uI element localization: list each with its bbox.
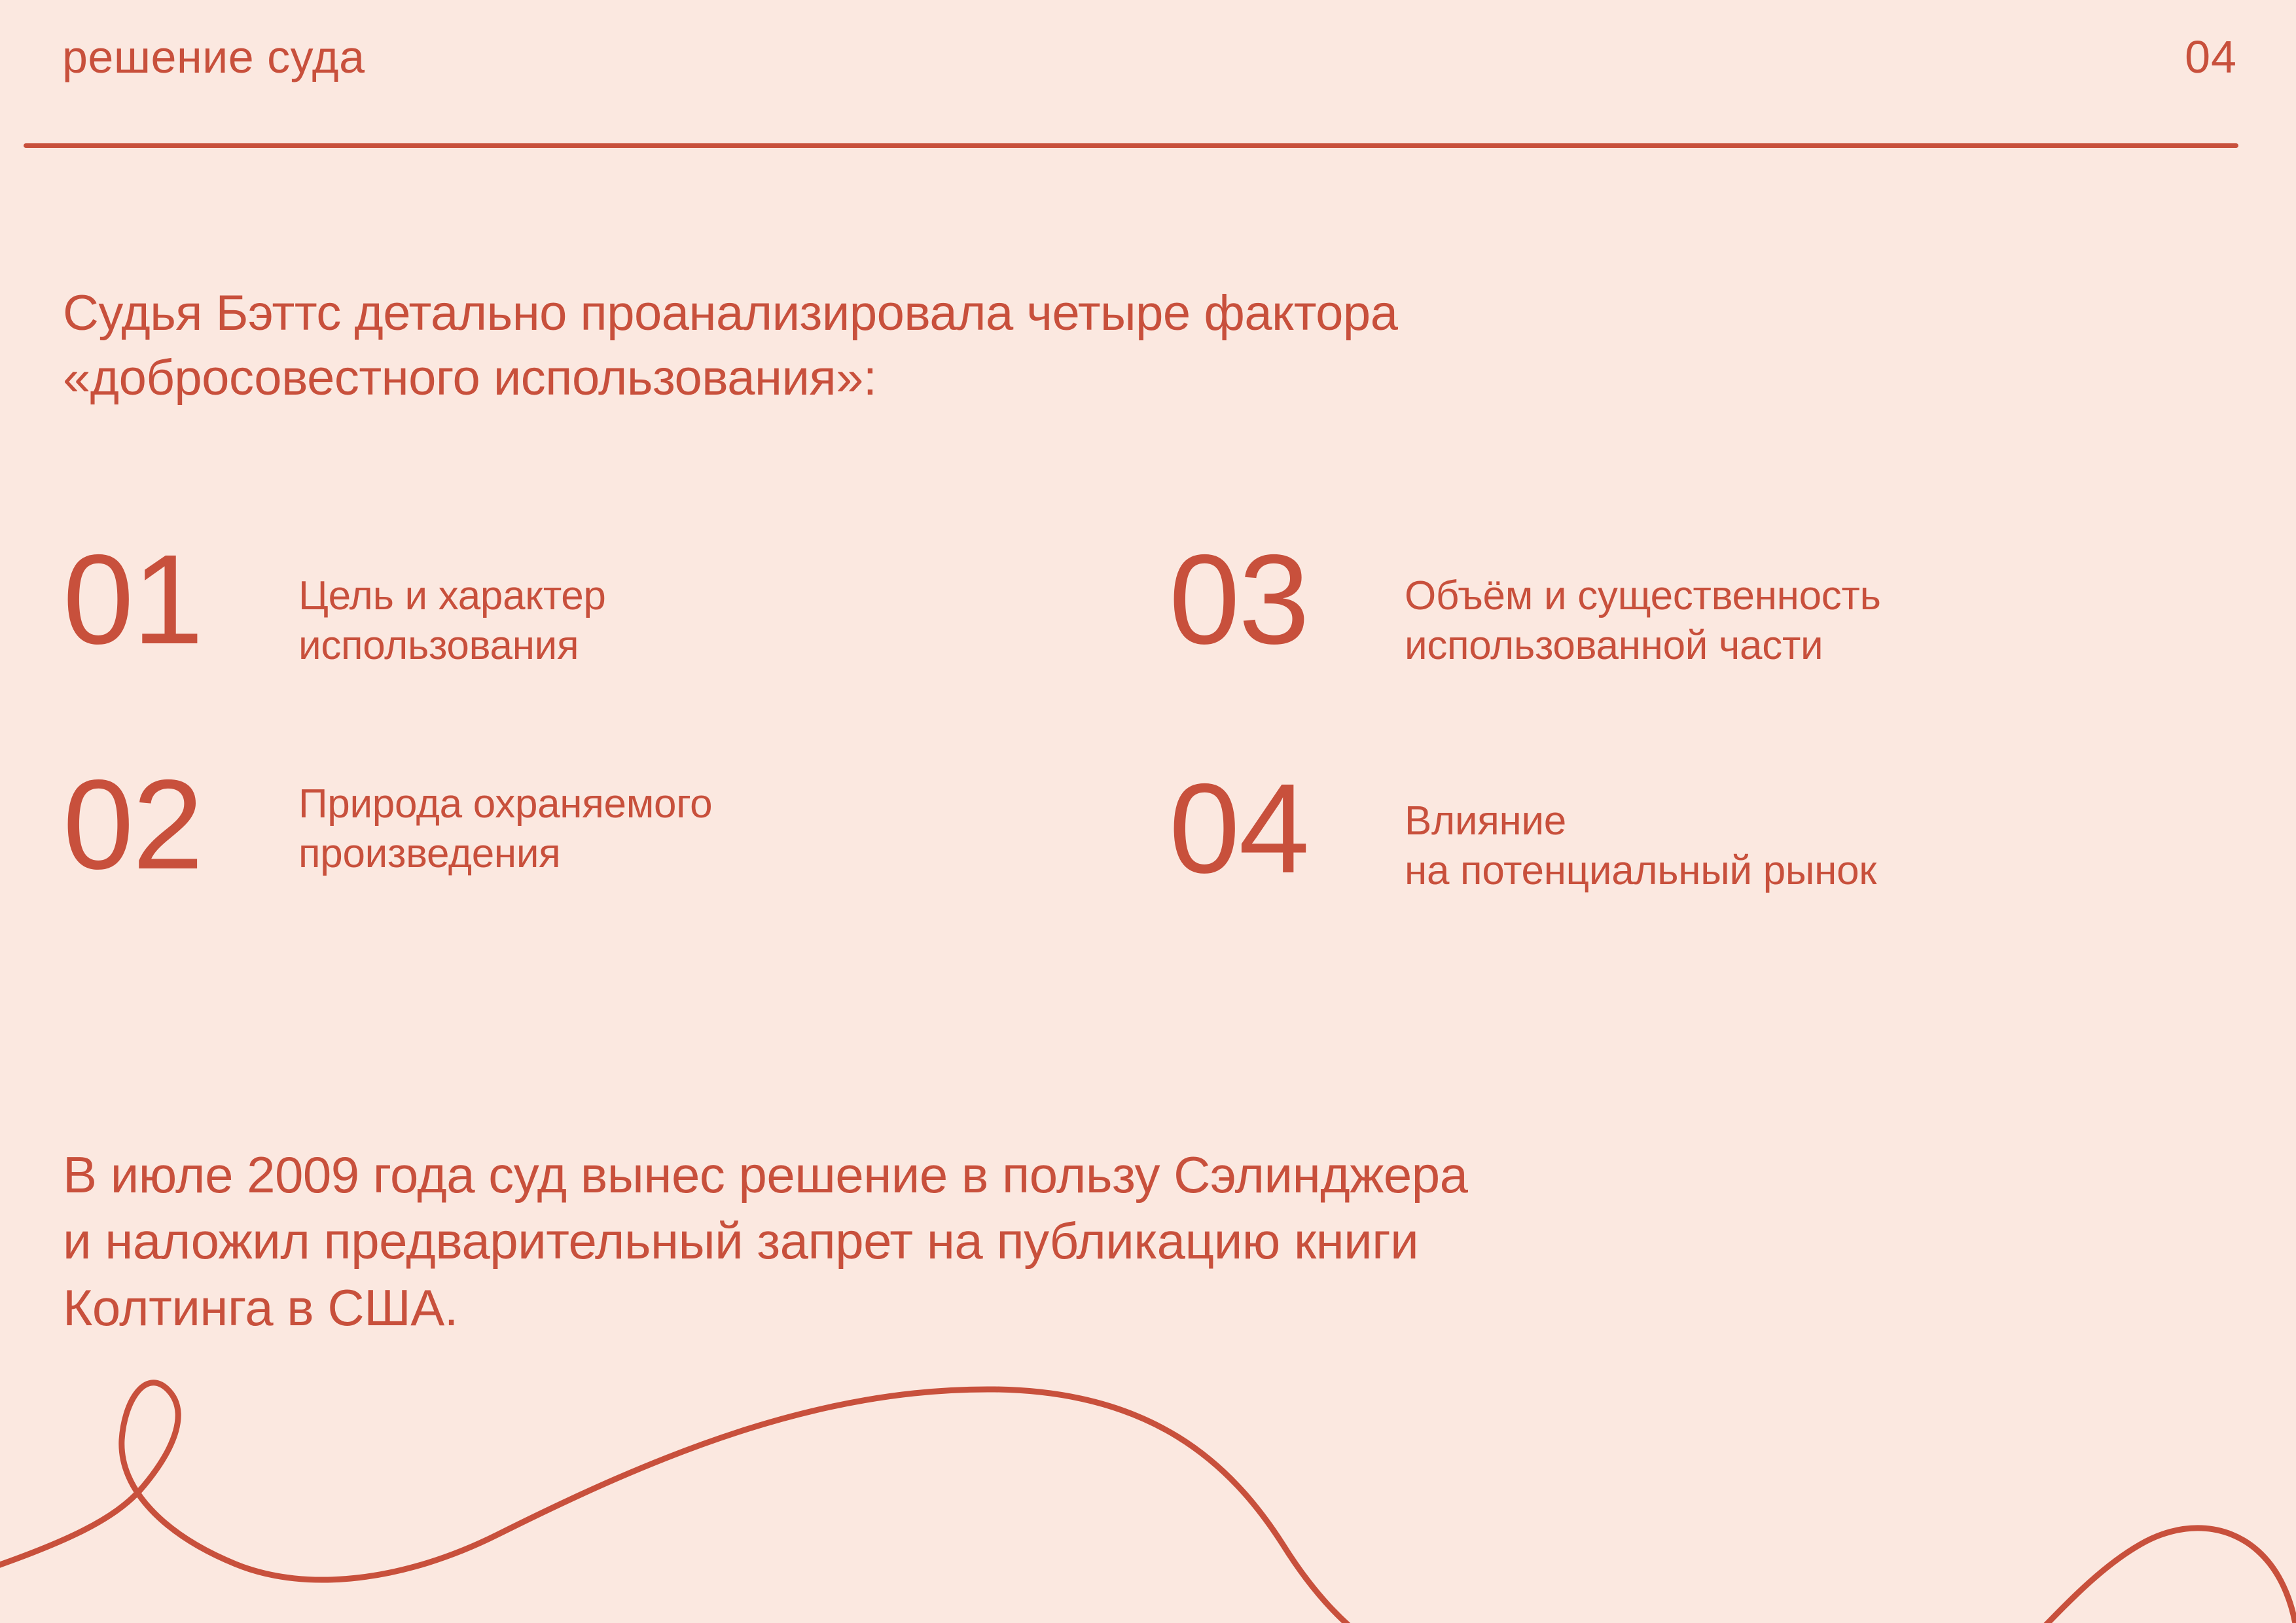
slide-header: решение суда 04	[0, 0, 2296, 151]
factor-label-03: Объём и существенность использованной ча…	[1405, 560, 1881, 670]
factor-label-03-line-1: Объём и существенность	[1405, 571, 1881, 621]
intro-line-1: Судья Бэттс детально проанализировала че…	[63, 281, 2190, 346]
fair-use-factors-grid: 01 Цель и характер использования 03 Объё…	[63, 560, 2242, 991]
outro-line-1: В июле 2009 года суд вынес решение в пол…	[63, 1142, 2242, 1208]
outro-paragraph: В июле 2009 года суд вынес решение в пол…	[63, 1142, 2242, 1341]
page-title: решение суда	[62, 34, 365, 80]
factor-label-02-line-2: произведения	[298, 829, 712, 879]
factor-number-03: 03	[1169, 541, 1405, 658]
factor-label-01-line-1: Цель и характер	[298, 571, 606, 621]
intro-paragraph: Судья Бэттс детально проанализировала че…	[63, 281, 2190, 411]
factor-label-01-line-2: использования	[298, 621, 606, 671]
factor-label-02: Природа охраняемого произведения	[298, 776, 712, 878]
header-divider	[24, 143, 2238, 148]
factor-number-04: 04	[1169, 770, 1405, 887]
factor-number-02: 02	[63, 766, 298, 883]
outro-line-2: и наложил предварительный запрет на публ…	[63, 1208, 2242, 1274]
header-row: решение суда 04	[62, 34, 2237, 80]
factor-item-01: 01 Цель и характер использования	[63, 560, 1136, 776]
factor-item-02: 02 Природа охраняемого произведения	[63, 776, 1136, 991]
factor-number-01: 01	[63, 541, 298, 658]
factor-label-02-line-1: Природа охраняемого	[298, 779, 712, 829]
decorative-flourish	[0, 1348, 2296, 1623]
flourish-path	[0, 1383, 2296, 1623]
intro-line-2: «добросовестного использования»:	[63, 346, 2190, 411]
factor-label-01: Цель и характер использования	[298, 560, 606, 670]
factor-label-04-line-1: Влияние	[1405, 796, 1876, 846]
factor-label-04-line-2: на потенциальный рынок	[1405, 846, 1876, 896]
factor-label-03-line-2: использованной части	[1405, 621, 1881, 671]
factor-label-04: Влияние на потенциальный рынок	[1405, 776, 1876, 895]
page-number: 04	[2185, 34, 2237, 80]
factor-item-04: 04 Влияние на потенциальный рынок	[1169, 776, 2242, 991]
factor-item-03: 03 Объём и существенность использованной…	[1169, 560, 2242, 776]
outro-line-3: Колтинга в США.	[63, 1275, 2242, 1341]
